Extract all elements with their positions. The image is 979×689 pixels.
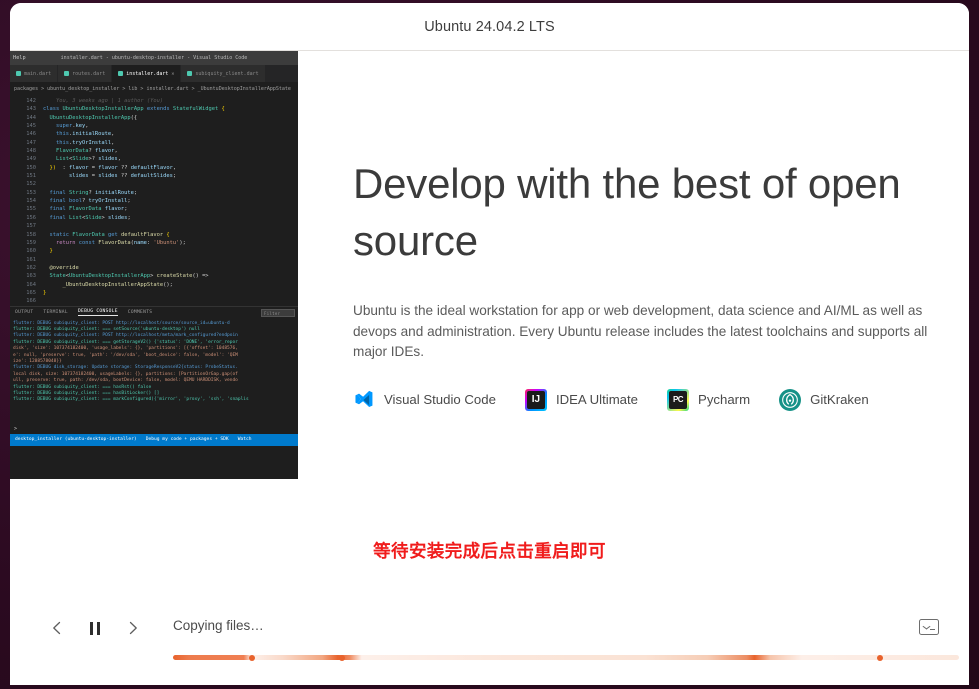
vscode-tab-label: main.dart xyxy=(24,71,51,77)
panel-tab-terminal: TERMINAL xyxy=(43,310,68,315)
install-progress-bar xyxy=(173,655,959,660)
installer-window: Ubuntu 24.04.2 LTS Help installer.dart -… xyxy=(10,3,969,685)
pause-icon xyxy=(90,622,101,635)
supported-apps-list: Visual Studio Code IJ IDEA Ultimate PC P… xyxy=(353,389,953,411)
vscode-tab-label: subiquity_client.dart xyxy=(195,71,258,77)
window-title: Ubuntu 24.04.2 LTS xyxy=(424,19,555,35)
progress-track xyxy=(173,655,959,660)
vscode-tab-label: installer.dart xyxy=(126,71,168,77)
progress-dot xyxy=(877,655,883,661)
vscode-debug-console-output: flutter: DEBUG subiquity_client: POST ht… xyxy=(10,319,298,425)
dart-file-icon xyxy=(64,71,69,76)
vscode-tab-main-dart: main.dart xyxy=(10,65,58,82)
close-icon: ✕ xyxy=(171,71,174,77)
statusbar-debug-mode: Debug my code + packages + SDK xyxy=(146,437,229,442)
panel-tab-debug-console: DEBUG CONSOLE xyxy=(78,309,118,316)
app-label: GitKraken xyxy=(810,392,869,407)
slideshow-content: Help installer.dart - ubuntu-desktop-ins… xyxy=(10,51,969,593)
app-item-gitkraken: GitKraken xyxy=(779,389,869,411)
idea-glyph: IJ xyxy=(527,391,545,409)
vscode-menubar: Help installer.dart - ubuntu-desktop-ins… xyxy=(10,51,298,65)
vscode-tab-strip: main.dart routes.dart installer.dart ✕ s… xyxy=(10,65,298,82)
progress-dot xyxy=(249,655,255,661)
progress-dot xyxy=(339,655,345,661)
pycharm-icon: PC xyxy=(667,389,689,411)
dart-file-icon xyxy=(187,71,192,76)
vscode-panel-tabs: OUTPUT TERMINAL DEBUG CONSOLE COMMENTS F… xyxy=(10,306,298,319)
slideshow-controls xyxy=(38,611,152,645)
vscode-tab-routes-dart: routes.dart xyxy=(58,65,112,82)
pause-slideshow-button[interactable] xyxy=(76,611,114,645)
app-item-idea-ultimate: IJ IDEA Ultimate xyxy=(525,389,638,411)
vscode-tab-installer-dart: installer.dart ✕ xyxy=(112,65,181,82)
gitkraken-icon xyxy=(779,389,801,411)
install-status-label: Copying files… xyxy=(173,618,264,633)
panel-tab-output: OUTPUT xyxy=(15,310,33,315)
dart-file-icon xyxy=(16,71,21,76)
panel-filter-input: Filter xyxy=(261,309,295,317)
vscode-tab-subiquity-client-dart: subiquity_client.dart xyxy=(181,65,265,82)
next-slide-button[interactable] xyxy=(114,611,152,645)
slide-screenshot-vscode: Help installer.dart - ubuntu-desktop-ins… xyxy=(10,51,298,479)
window-titlebar: Ubuntu 24.04.2 LTS xyxy=(10,3,969,51)
chevron-left-icon xyxy=(50,621,64,635)
restart-notice-text: 等待安装完成后点击重启即可 xyxy=(10,538,969,563)
app-item-pycharm: PC Pycharm xyxy=(667,389,750,411)
vscode-tab-label: routes.dart xyxy=(72,71,105,77)
vscode-statusbar: desktop_installer (ubuntu-desktop-instal… xyxy=(10,434,298,446)
app-item-visual-studio-code: Visual Studio Code xyxy=(353,389,496,411)
vscode-code-area: 142 You, 3 weeks ago | 1 author (You) 14… xyxy=(10,95,298,306)
app-label: Pycharm xyxy=(698,392,750,407)
slide-heading: Develop with the best of open source xyxy=(353,155,913,269)
intellij-idea-icon: IJ xyxy=(525,389,547,411)
vscode-breadcrumb: packages > ubuntu_desktop_installer > li… xyxy=(10,82,298,95)
panel-tab-comments: COMMENTS xyxy=(128,310,153,315)
previous-slide-button[interactable] xyxy=(38,611,76,645)
vscode-console-prompt: > xyxy=(10,425,298,434)
slide-body-text: Ubuntu is the ideal workstation for app … xyxy=(353,301,928,363)
app-label: Visual Studio Code xyxy=(384,392,496,407)
app-label: IDEA Ultimate xyxy=(556,392,638,407)
statusbar-watch: Watch xyxy=(238,437,252,442)
dart-file-icon xyxy=(118,71,123,76)
pycharm-glyph: PC xyxy=(669,391,687,409)
terminal-icon xyxy=(919,619,939,635)
slide-text-column: Develop with the best of open source Ubu… xyxy=(353,51,953,411)
installer-footer: Copying files… xyxy=(10,593,969,685)
chevron-right-icon xyxy=(126,621,140,635)
visual-studio-code-icon xyxy=(353,389,375,411)
show-terminal-button[interactable] xyxy=(913,612,945,642)
statusbar-project: desktop_installer (ubuntu-desktop-instal… xyxy=(15,437,137,442)
vscode-window-title: installer.dart - ubuntu-desktop-installe… xyxy=(10,55,298,61)
